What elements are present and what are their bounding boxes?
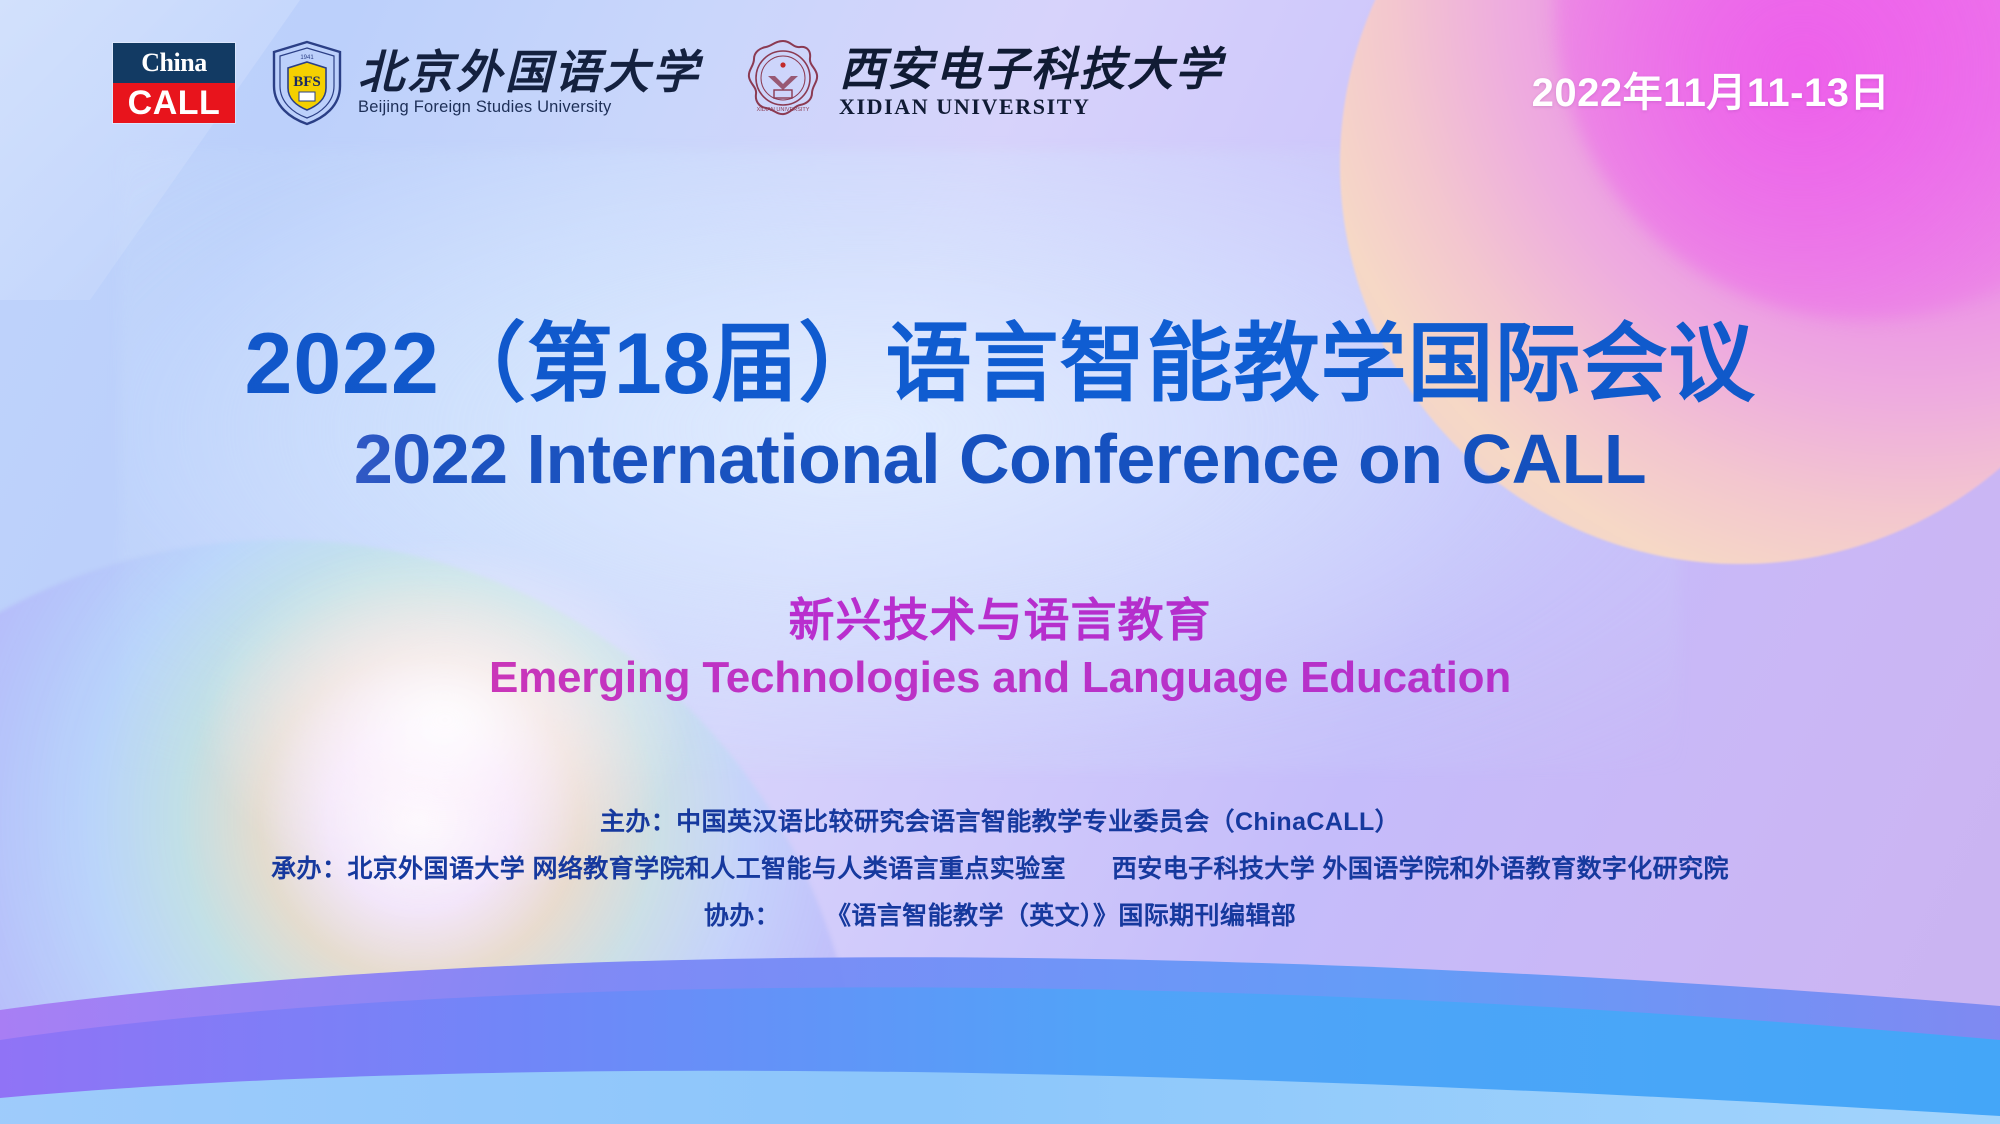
bfsu-name-en: Beijing Foreign Studies University — [358, 98, 701, 117]
poster-header: China CALL BFS 1941 北京外国语大学 — [0, 0, 2000, 170]
conference-title-cn: 2022（第18届）语言智能教学国际会议 — [0, 318, 2000, 411]
title-block: 2022（第18届）语言智能教学国际会议 2022 International … — [0, 318, 2000, 498]
conference-theme-cn: 新兴技术与语言教育 — [0, 594, 2000, 647]
xidian-logo-text: 西安电子科技大学 XIDIAN UNIVERSITY — [839, 47, 1223, 120]
organizer-coorganizer-line: 协办：《语言智能教学（英文）》国际期刊编辑部 — [0, 904, 2000, 929]
organizer-undertaker-value-1: 北京外国语大学 网络教育学院和人工智能与人类语言重点实验室 — [347, 855, 1066, 883]
chinacall-logo-line1: China — [113, 43, 235, 83]
chinacall-logo-line1-text: China — [141, 48, 206, 78]
conference-date: 2022年11月11-13日 — [1532, 60, 1890, 118]
conference-poster: China CALL BFS 1941 北京外国语大学 — [0, 0, 2000, 1124]
xidian-name-cn: 西安电子科技大学 — [839, 47, 1223, 93]
organizers-block: 主办：中国英汉语比较研究会语言智能教学专业委员会（ChinaCALL） 承办：北… — [0, 810, 2000, 929]
svg-text:XIDIAN UNIVERSITY: XIDIAN UNIVERSITY — [757, 107, 810, 113]
organizer-coorganizer-value: 《语言智能教学（英文）》国际期刊编辑部 — [826, 902, 1296, 930]
organizer-coorganizer-label: 协办： — [704, 902, 780, 930]
xidian-logo: XIDIAN UNIVERSITY 西安电子科技大学 XIDIAN UNIVER… — [741, 38, 1223, 128]
chinacall-logo: China CALL — [112, 42, 236, 124]
bfsu-logo: BFS 1941 北京外国语大学 Beijing Foreign Studies… — [270, 40, 701, 126]
organizer-undertaker-label: 承办： — [271, 855, 347, 883]
logo-row: China CALL BFS 1941 北京外国语大学 — [112, 38, 1223, 128]
organizer-undertaker-value-2: 西安电子科技大学 外国语学院和外语教育数字化研究院 — [1112, 855, 1729, 883]
poster-content: China CALL BFS 1941 北京外国语大学 — [0, 0, 2000, 1124]
xidian-crest-icon: XIDIAN UNIVERSITY — [741, 38, 825, 128]
organizer-undertaker-line: 承办：北京外国语大学 网络教育学院和人工智能与人类语言重点实验室西安电子科技大学… — [0, 857, 2000, 882]
bfsu-logo-text: 北京外国语大学 Beijing Foreign Studies Universi… — [358, 50, 701, 117]
theme-block: 新兴技术与语言教育 Emerging Technologies and Lang… — [0, 594, 2000, 703]
organizer-host-line: 主办：中国英汉语比较研究会语言智能教学专业委员会（ChinaCALL） — [0, 810, 2000, 835]
svg-text:1941: 1941 — [300, 55, 314, 61]
bfsu-crest-icon: BFS 1941 — [270, 40, 344, 126]
conference-title-en: 2022 International Conference on CALL — [0, 421, 2000, 498]
bfsu-name-cn: 北京外国语大学 — [358, 50, 701, 96]
chinacall-logo-line2: CALL — [113, 83, 235, 123]
conference-theme-en: Emerging Technologies and Language Educa… — [0, 653, 2000, 704]
organizer-host-label: 主办： — [600, 808, 676, 836]
xidian-name-en: XIDIAN UNIVERSITY — [839, 94, 1223, 120]
organizer-host-value: 中国英汉语比较研究会语言智能教学专业委员会（ChinaCALL） — [676, 808, 1400, 836]
svg-text:BFS: BFS — [293, 74, 321, 90]
